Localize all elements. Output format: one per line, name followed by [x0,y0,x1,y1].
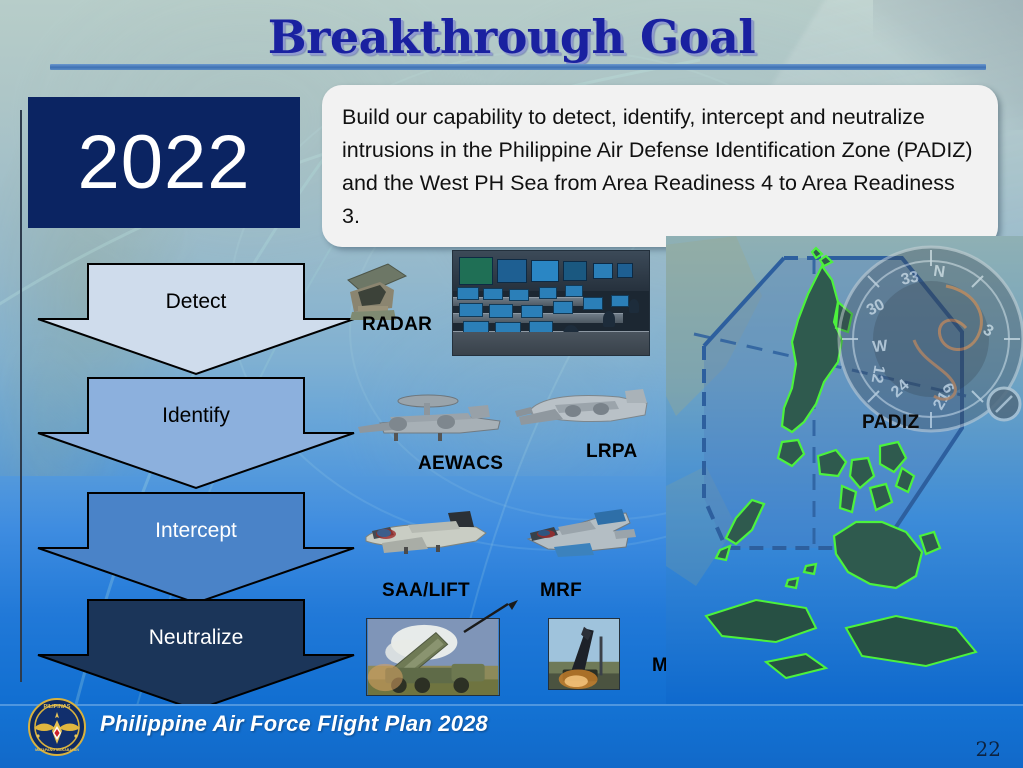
svg-text:W: W [872,338,890,357]
capability-label-mrf: MRF [540,580,582,602]
saa-lift-jet-icon [352,503,492,575]
svg-text:PILIPINAS: PILIPINAS [44,704,71,710]
mds-vertical-launcher-photo [548,618,620,690]
paf-seal-icon: PILIPINAS MATAPANG MAKABAYAN [28,698,86,756]
goal-callout-text: Build our capability to detect, identify… [342,101,974,233]
arrow-down-shape [36,493,356,605]
svg-text:MATAPANG MAKABAYAN: MATAPANG MAKABAYAN [35,748,79,752]
page-number: 22 [976,737,1001,761]
left-vertical-rule [20,110,22,682]
footer-top-rule [0,704,1023,706]
stage-arrow-neutralize[interactable]: Neutralize [36,600,356,712]
svg-text:12: 12 [868,364,888,385]
stage-arrow-intercept[interactable]: Intercept [36,493,356,605]
footer-title: Philippine Air Force Flight Plan 2028 [100,711,488,737]
aewacs-aircraft-icon [350,383,510,455]
page-title: Breakthrough Goal [0,10,1023,64]
capability-label-radar: RADAR [362,314,432,336]
arrow-down-shape [36,264,356,376]
goal-callout-box: Build our capability to detect, identify… [322,85,998,247]
capability-label-aewacs: AEWACS [418,453,503,475]
capability-label-lrpa: LRPA [586,441,638,463]
svg-text:33: 33 [899,268,920,288]
svg-text:N: N [932,263,946,281]
padiz-zone-label: PADIZ [862,412,920,434]
arrow-down-shape [36,600,356,712]
capability-label-saa-lift: SAA/LIFT [382,580,470,602]
stage-arrow-identify[interactable]: Identify [36,378,356,490]
missile-trail-icon [460,600,520,636]
mrf-fighter-icon [518,503,640,575]
compass-rose-icon: N W 30 33 3 6 12 21 24 [826,244,1023,444]
title-underline-rule [50,64,986,70]
slide: Breakthrough Goal 2022 Build our capabil… [0,0,1023,768]
stage-arrow-detect[interactable]: Detect [36,264,356,376]
lrpa-aircraft-icon [515,383,655,445]
year-badge: 2022 [28,97,300,228]
year-label: 2022 [77,125,250,201]
arrow-down-shape [36,378,356,490]
command-center-photo [452,250,650,356]
